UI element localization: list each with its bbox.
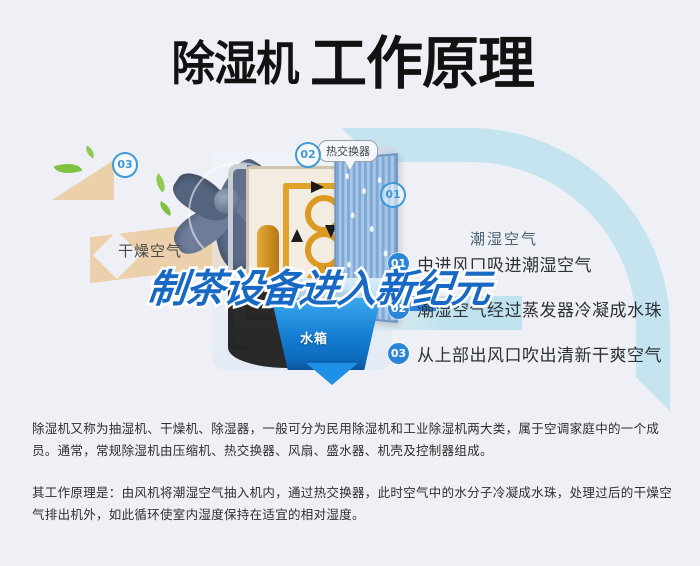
condensation-droplet: [362, 188, 366, 194]
list-item: 03 从上部出风口吹出清新干爽空气: [388, 338, 688, 369]
leaf-icon: [157, 201, 174, 216]
step-badge-03: 03: [388, 343, 409, 364]
humid-air-label: 潮湿空气: [470, 228, 538, 249]
water-tank-bottom: [306, 363, 358, 385]
diagram-badge-02: 02: [295, 142, 321, 168]
condensation-droplet: [345, 173, 349, 179]
description-paragraph-2: 其工作原理是：由风机将潮湿空气抽入机内，通过热交换器，此时空气中的水分子冷凝成水…: [32, 482, 672, 526]
heat-exchanger-callout: 热交换器: [318, 140, 378, 162]
page-title-primary: 除湿机: [172, 25, 299, 94]
overlay-watermark-text: 制茶设备进入新纪元: [145, 258, 493, 314]
page-title-secondary: 工作原理: [310, 18, 534, 100]
refrigerant-pipe: [283, 183, 337, 189]
description-paragraph-1: 除湿机又称为抽湿机、干燥机、除湿器，一般可分为民用除湿机和工业除湿机两大类，属于…: [32, 418, 672, 462]
flow-arrow-up-icon: [291, 229, 303, 242]
condensation-droplet: [351, 212, 355, 218]
flow-arrow-right-icon: [311, 181, 324, 193]
description-block: 除湿机又称为抽湿机、干燥机、除湿器，一般可分为民用除湿机和工业除湿机两大类，属于…: [32, 418, 672, 546]
diagram-badge-03: 03: [112, 152, 138, 178]
leaf-icon: [83, 145, 97, 158]
condensation-droplet: [370, 226, 374, 232]
diagram-badge-01: 01: [380, 182, 406, 208]
leaf-icon: [151, 173, 170, 192]
condensation-droplet: [378, 177, 382, 183]
step-text-03: 从上部出风口吹出清新干爽空气: [417, 341, 662, 366]
page-title: 除湿机工作原理: [0, 18, 700, 100]
water-tank-label: 水箱: [300, 328, 328, 347]
